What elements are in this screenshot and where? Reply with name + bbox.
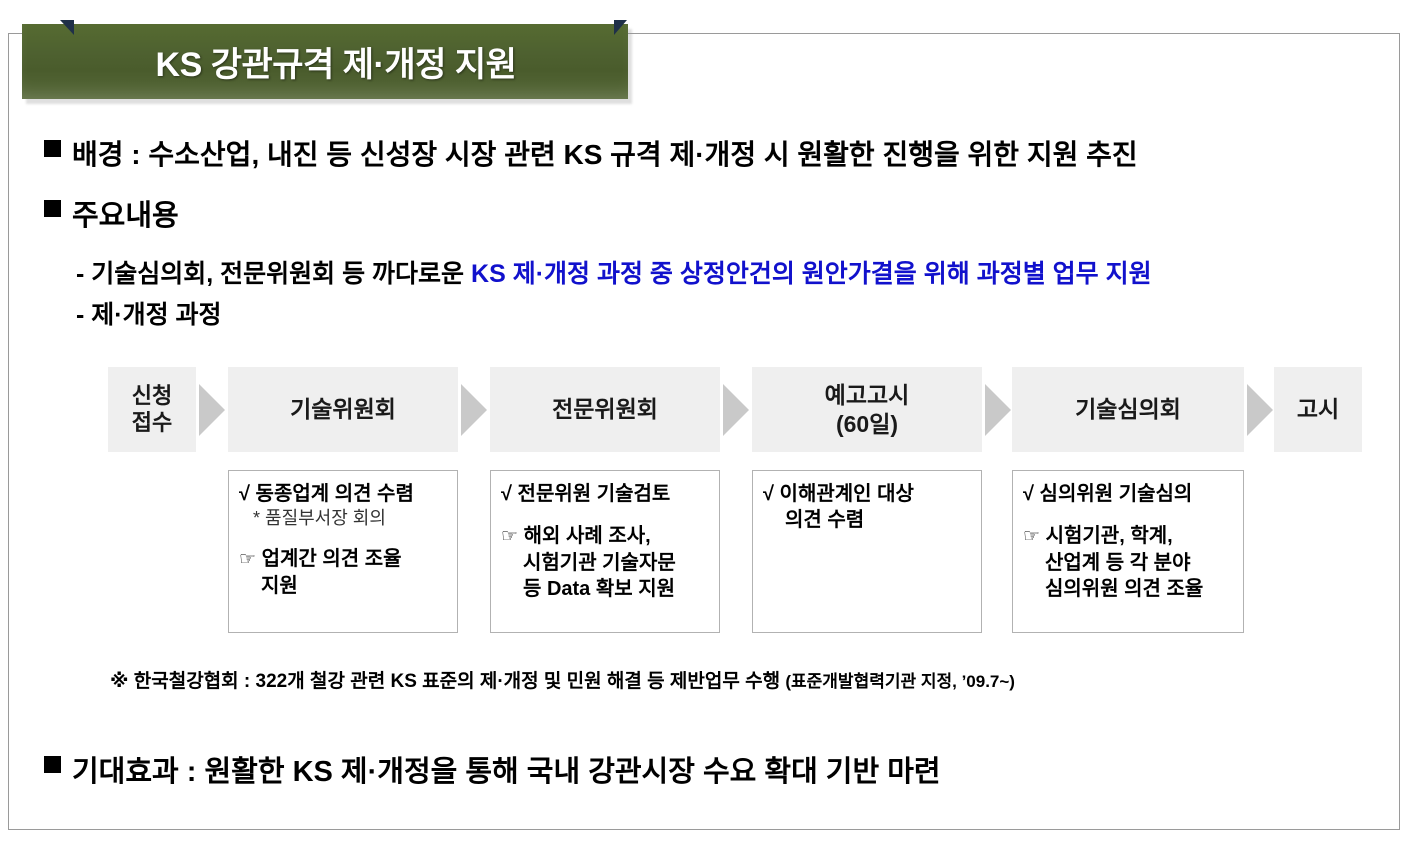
detail-box-3-check-text: 이해관계인 대상 bbox=[780, 483, 914, 505]
flow-arrow-2-icon bbox=[461, 384, 487, 436]
detail-box-4-check-row: √ 심의위원 기술심의 bbox=[1023, 481, 1237, 507]
footnote-text: 한국철강협회 : 322개 철강 관련 KS 표준의 제·개정 및 민원 해결 … bbox=[134, 671, 780, 692]
flow-step-deliberation-committee: 기술심의회 bbox=[1012, 367, 1244, 452]
detail-box-3-check-row: √ 이해관계인 대상 bbox=[763, 481, 975, 507]
detail-box-2-hand-text-line2: 시험기관 기술자문 bbox=[501, 550, 713, 576]
footnote: ※ 한국철강협회 : 322개 철강 관련 KS 표준의 제·개정 및 민원 해… bbox=[110, 666, 1015, 693]
pointing-hand-icon: ☞ bbox=[1023, 526, 1040, 547]
flow-arrow-1-icon bbox=[199, 384, 225, 436]
bullet-expected-effect: 기대효과 : 원활한 KS 제·개정을 통해 국내 강관시장 수요 확대 기반 … bbox=[44, 748, 941, 790]
reference-mark-icon: ※ bbox=[110, 671, 128, 692]
square-bullet-icon bbox=[44, 140, 61, 157]
detail-box-4-hand-text: 시험기관, 학계, bbox=[1046, 525, 1173, 547]
check-mark-icon: √ bbox=[1023, 483, 1034, 505]
bullet-expected-effect-label: 기대효과 : 원활한 KS 제·개정을 통해 국내 강관시장 수요 확대 기반 … bbox=[72, 748, 941, 790]
detail-box-2-hand-text: 해외 사례 조사, bbox=[524, 525, 651, 547]
slide-canvas: KS 강관규격 제·개정 지원 배경 : 수소산업, 내진 등 신성장 시장 관… bbox=[0, 0, 1409, 861]
detail-box-deliberation-committee: √ 심의위원 기술심의 ☞ 시험기관, 학계, 산업계 등 각 분야 심의위원 … bbox=[1012, 470, 1244, 633]
sub-bullet-line-1-highlight: KS 제·개정 과정 중 상정안건의 원안가결을 위해 과정별 업무 지원 bbox=[471, 260, 1152, 288]
flow-step-public-notice-line1: 예고고시 bbox=[825, 381, 910, 409]
detail-box-technical-committee: √ 동종업계 의견 수렴 * 품질부서장 회의 ☞ 업계간 의견 조율 지원 bbox=[228, 470, 458, 633]
flow-step-application: 신청 접수 bbox=[108, 367, 196, 452]
flow-arrow-3-icon bbox=[723, 384, 749, 436]
page-title: KS 강관규격 제·개정 지원 bbox=[22, 24, 628, 99]
sub-bullet-line-2: - 제·개정 과정 bbox=[76, 295, 222, 331]
bullet-main-content: 주요내용 bbox=[44, 192, 179, 234]
bullet-background: 배경 : 수소산업, 내진 등 신성장 시장 관련 KS 규격 제·개정 시 원… bbox=[44, 133, 1138, 173]
flow-step-expert-committee: 전문위원회 bbox=[490, 367, 720, 452]
detail-box-2-check-row: √ 전문위원 기술검토 bbox=[501, 481, 713, 507]
flow-step-public-notice: 예고고시 (60일) bbox=[752, 367, 982, 452]
spacer bbox=[1023, 507, 1237, 523]
flow-step-public-notice-line2: (60일) bbox=[825, 410, 910, 438]
detail-box-2-hand-row: ☞ 해외 사례 조사, bbox=[501, 523, 713, 550]
pointing-hand-icon: ☞ bbox=[501, 526, 518, 547]
flow-step-deliberation-committee-label: 기술심의회 bbox=[1075, 395, 1181, 423]
detail-box-2-check-text: 전문위원 기술검토 bbox=[518, 483, 671, 505]
square-bullet-icon bbox=[44, 756, 61, 773]
sub-bullet-line-1: - 기술심의회, 전문위원회 등 까다로운 KS 제·개정 과정 중 상정안건의… bbox=[76, 254, 1152, 290]
check-mark-icon: √ bbox=[239, 483, 250, 505]
detail-box-1-note: * 품질부서장 회의 bbox=[239, 507, 451, 530]
detail-box-4-hand-text-line2: 산업계 등 각 분야 bbox=[1023, 550, 1237, 576]
bullet-main-content-label: 주요내용 bbox=[72, 192, 179, 234]
flow-step-application-line2: 접수 bbox=[132, 410, 172, 437]
spacer bbox=[501, 507, 713, 523]
flow-step-technical-committee-label: 기술위원회 bbox=[290, 395, 396, 423]
detail-box-4-hand-row: ☞ 시험기관, 학계, bbox=[1023, 523, 1237, 550]
flow-step-technical-committee: 기술위원회 bbox=[228, 367, 458, 452]
detail-box-4-hand-text-line3: 심의위원 의견 조율 bbox=[1023, 576, 1237, 602]
pointing-hand-icon: ☞ bbox=[239, 549, 256, 570]
sub-bullet-line-1-prefix: - 기술심의회, 전문위원회 등 까다로운 bbox=[76, 260, 471, 288]
flow-arrow-5-icon bbox=[1247, 384, 1273, 436]
check-mark-icon: √ bbox=[763, 483, 774, 505]
detail-box-1-hand-row: ☞ 업계간 의견 조율 bbox=[239, 546, 451, 573]
bullet-background-label: 배경 : 수소산업, 내진 등 신성장 시장 관련 KS 규격 제·개정 시 원… bbox=[72, 133, 1138, 173]
flow-step-expert-committee-label: 전문위원회 bbox=[552, 395, 658, 423]
detail-box-1-check-row: √ 동종업계 의견 수렴 bbox=[239, 481, 451, 507]
check-mark-icon: √ bbox=[501, 483, 512, 505]
spacer bbox=[239, 530, 451, 546]
footnote-tail: (표준개발협력기관 지정, ’09.7~) bbox=[785, 672, 1015, 691]
flow-arrow-4-icon bbox=[985, 384, 1011, 436]
detail-box-1-check-text: 동종업계 의견 수렴 bbox=[256, 483, 414, 505]
detail-box-4-check-text: 심의위원 기술심의 bbox=[1040, 483, 1193, 505]
title-banner: KS 강관규격 제·개정 지원 bbox=[22, 24, 628, 99]
detail-box-1-hand-text: 업계간 의견 조율 bbox=[262, 548, 402, 570]
detail-box-public-notice: √ 이해관계인 대상 의견 수렴 bbox=[752, 470, 982, 633]
detail-box-expert-committee: √ 전문위원 기술검토 ☞ 해외 사례 조사, 시험기관 기술자문 등 Data… bbox=[490, 470, 720, 633]
square-bullet-icon bbox=[44, 200, 61, 217]
flow-step-application-line1: 신청 bbox=[132, 383, 172, 410]
detail-box-2-hand-text-line3: 등 Data 확보 지원 bbox=[501, 576, 713, 602]
flow-step-notification: 고시 bbox=[1274, 367, 1362, 452]
process-flow: 신청 접수 기술위원회 전문위원회 예고고시 (60일) 기술심의회 고시 bbox=[0, 367, 1409, 452]
detail-box-3-check-text-line2: 의견 수렴 bbox=[763, 507, 975, 533]
detail-box-1-hand-text-line2: 지원 bbox=[239, 573, 451, 599]
flow-step-notification-label: 고시 bbox=[1297, 395, 1339, 423]
